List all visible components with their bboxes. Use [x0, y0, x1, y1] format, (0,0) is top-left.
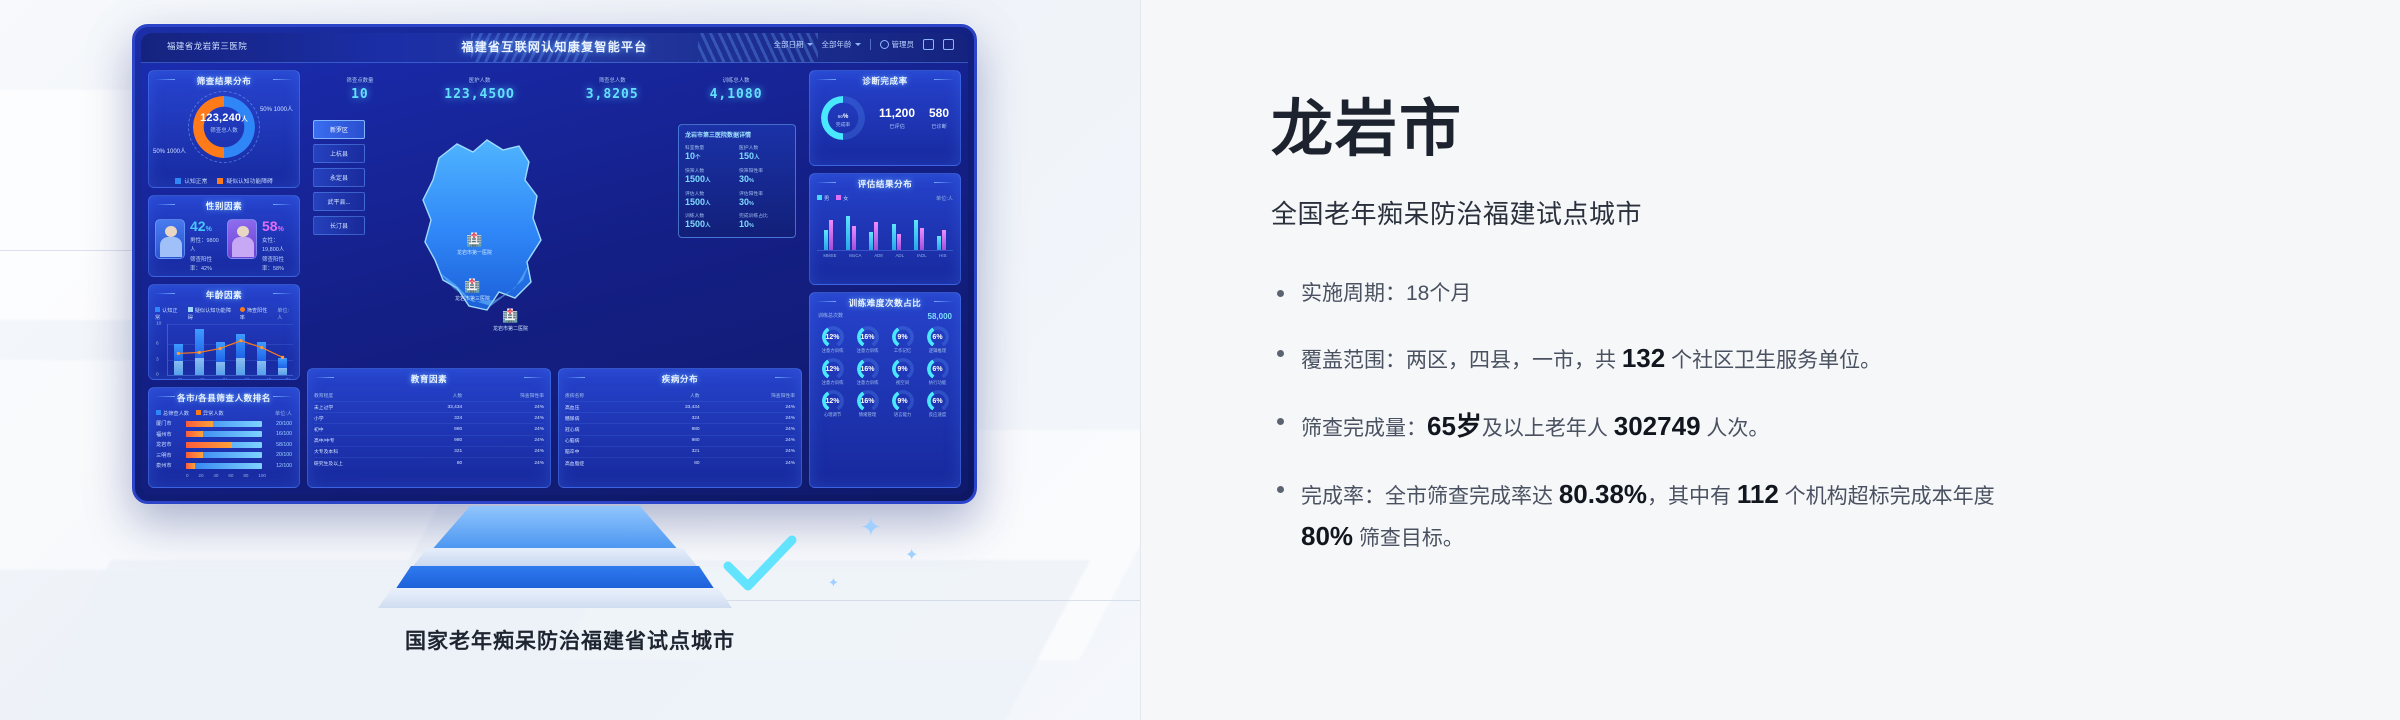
stat-label: 已诊断 [929, 123, 949, 130]
x-tick: 20 [198, 473, 203, 478]
legend-item: 总筛查人数 [156, 410, 189, 417]
panel-title: 评估结果分布 [810, 174, 960, 193]
kpi-total-trained: 训练总人数 4,1080 [710, 76, 763, 102]
city-ranking-panel: 各市/各县筛查人数排名 总筛查人数 异常人数 单位:人 厦门市20/100 福州… [148, 387, 300, 488]
table-row: 未上过学33,43424% [314, 402, 544, 413]
table-row: 研究生及以上8024% [314, 457, 544, 468]
dashboard-center-column: 筛查点数量 10 医护人数 123,45OO 筛查总人数 3,8205 [307, 70, 802, 488]
donut-value: 123,240 [200, 112, 241, 124]
sparkle-icon: ✦ [905, 545, 918, 565]
map-poi[interactable]: 🏥 龙岩市第一医院 [457, 232, 492, 256]
highlight-value: 112 [1737, 479, 1779, 509]
avatar-female-icon [227, 219, 257, 259]
hospital-icon: 🏥 [493, 308, 528, 324]
info-value: 30 [739, 197, 749, 207]
district-item[interactable]: 新罗区 [313, 120, 365, 139]
diagnosis-rate-panel: 诊断完成率 50% 完成率 11,20 [809, 70, 961, 166]
rank-unit: 单位:人 [275, 410, 292, 417]
legend-item: 疑似认知功能障碍 [217, 176, 272, 185]
age-x-labels: <60岁60-64岁65-69岁 70-74岁75-80岁>80岁 [167, 378, 293, 380]
dashboard-header: 福建省龙岩第三医院 福建省互联网认知康复智能平台 全部日期 全部年龄 [141, 33, 968, 63]
age-filter[interactable]: 全部年龄 [822, 39, 861, 50]
x-tick: 40 [213, 473, 218, 478]
legend-label: 疑似认知功能障碍 [188, 308, 231, 321]
hospital-icon: 🏥 [457, 232, 492, 248]
kpi-value: 10 [346, 87, 373, 102]
text-fragment: ，其中有 [1647, 485, 1737, 508]
training-cell: 16%注意力训练 [851, 358, 884, 386]
age-chart: 认知正常 疑似认知功能障碍 筛查阳性率 单位:人 10 6 3 0 [149, 304, 299, 380]
pedestal-layer [430, 506, 680, 552]
age-legend: 认知正常 疑似认知功能障碍 筛查阳性率 单位:人 [155, 307, 293, 321]
legend-label: 疑似认知功能障碍 [226, 179, 272, 185]
showcase-caption: 国家老年痴呆防治福建省试点城市 [0, 625, 1140, 655]
bar-group [937, 230, 947, 250]
fact-list: 实施周期：18个月 覆盖范围：两区，四县，一市，共 132 个社区卫生服务单位。… [1271, 277, 2310, 557]
training-cell: 6%反应速度 [921, 390, 954, 418]
diagnosis-stats: 50% 完成率 11,200 已评估 580 [810, 90, 960, 148]
training-cell: 16%注意力训练 [851, 326, 884, 354]
female-pct: 58 [262, 218, 278, 234]
training-cell: 9%语言能力 [886, 390, 919, 418]
hospital-info-card: 龙岩市第三医院数据详情 科室数量10个 医护人数150人 快筛人数1500人 快… [678, 124, 796, 238]
chevron-down-icon [807, 43, 813, 46]
legend-item: 男 [817, 195, 829, 202]
info-field: 完成训练占比10% [739, 212, 789, 230]
info-field: 快筛阳性率30% [739, 167, 789, 185]
panel-title: 各市/各县筛查人数排名 [149, 388, 299, 407]
info-card-grid: 科室数量10个 医护人数150人 快筛人数1500人 快筛阳性率30% 评估人数… [685, 144, 789, 230]
legend-item: 女 [836, 195, 848, 202]
info-value: 1500 [685, 219, 705, 229]
female-rate: 筛查阳性率：58% [262, 256, 293, 275]
legend-swatch [175, 178, 181, 184]
highlight-value: 80.38% [1559, 479, 1647, 509]
text-fragment: 个社区卫生服务单位。 [1665, 349, 1881, 372]
district-item[interactable]: 上杭县 [313, 144, 365, 163]
training-cell: 6%逻辑推理 [921, 326, 954, 354]
legend-item: 筛查阳性率 [240, 307, 271, 321]
assessment-chart: 男 女 单位:人 [810, 193, 960, 264]
legend-swatch [240, 307, 245, 312]
sparkle-icon: ✦ [860, 512, 882, 543]
table-row: 福州市16/100 [156, 431, 292, 438]
pedestal-layer [395, 566, 715, 590]
gender-items: 42% 男性：9800人 筛查阳性率：42% [149, 215, 299, 277]
avatar-male-icon [155, 219, 185, 259]
table-row: 初中98024% [314, 424, 544, 435]
legend-label: 男 [824, 196, 829, 202]
highlight-value: 65岁 [1427, 411, 1482, 441]
dashboard-left-column: 筛查结果分布 123,240人 筛查总人数 50% 1000人 50% 1000… [148, 70, 300, 488]
kpi-value: 4,1080 [710, 87, 763, 102]
diagnosis-gauge: 50% 完成率 [821, 96, 865, 140]
legend-swatch [817, 195, 822, 200]
kpi-label: 筛查点数量 [346, 76, 373, 84]
gender-factor-panel: 性别因素 42% 男性：9800人 筛查阳性率：42% [148, 195, 300, 277]
training-cell: 9%工作记忆 [886, 326, 919, 354]
training-total-label: 训练总次数 [818, 312, 843, 321]
info-value: 30 [739, 174, 749, 184]
table-row: 小学32424% [314, 413, 544, 424]
district-item[interactable]: 永定县 [313, 168, 365, 187]
education-table: 教育程度人数筛查阳性率 未上过学33,43424% 小学32424% 初中980… [308, 388, 550, 474]
x-tick: 0 [186, 473, 189, 478]
col-header: 人数 [641, 390, 699, 402]
stat-value: 580 [929, 106, 949, 120]
training-cell: 6%执行功能 [921, 358, 954, 386]
kpi-label: 训练总人数 [710, 76, 763, 84]
donut-label-right: 50% 1000人 [260, 104, 293, 113]
female-pct-unit: % [278, 226, 284, 233]
text-fragment: 个机构超标完成本年度 [1779, 485, 1995, 508]
user-icon [880, 40, 889, 49]
district-item[interactable]: 长汀县 [313, 216, 365, 235]
info-value: 10 [739, 219, 749, 229]
info-field: 医护人数150人 [739, 144, 789, 162]
x-tick: AD8 [874, 253, 883, 258]
map-poi[interactable]: 🏥 龙岩市第三医院 [455, 278, 490, 302]
table-row: 高血压33,43424% [565, 402, 795, 413]
assessment-unit: 单位:人 [936, 195, 953, 202]
panel-title: 诊断完成率 [810, 71, 960, 90]
text-fragment: 及以上老年人 [1482, 417, 1614, 440]
male-pct: 42 [190, 218, 206, 234]
training-total: 训练总次数 58,000 [810, 312, 960, 324]
screen-icon[interactable] [923, 39, 934, 50]
text-fragment: 覆盖范围：两区，四县，一市，共 [1301, 349, 1622, 372]
page-title: 龙岩市 [1271, 78, 2310, 168]
training-difficulty-panel: 训练难度次数占比 训练总次数 58,000 12%注意力训练 16%注意力训练 … [809, 292, 961, 488]
x-tick: 80 [243, 473, 248, 478]
highlight-value: 302749 [1614, 411, 1701, 441]
donut-label-left: 50% 1000人 [153, 146, 186, 155]
showcase-panel: 福建省龙岩第三医院 福建省互联网认知康复智能平台 全部日期 全部年龄 [0, 0, 1140, 720]
age-plot: 10 6 3 0 [167, 324, 293, 376]
female-count: 女性：19,800人 [262, 237, 293, 256]
stat-assessed: 11,200 已评估 [879, 106, 915, 130]
legend-item: 认知正常 [175, 176, 207, 185]
bar-group [846, 216, 856, 250]
info-field: 科室数量10个 [685, 144, 735, 162]
sparkle-icon: ✦ [828, 575, 839, 591]
gender-item-female: 58% 女性：19,800人 筛查阳性率：58% [227, 219, 293, 274]
x-tick: 60 [228, 473, 233, 478]
x-tick: 60-64岁 [188, 378, 204, 380]
rank-axis: 0 20 40 60 80 100 [186, 473, 266, 478]
x-tick: MMSE [823, 253, 836, 258]
table-row: 三明市20/100 [156, 452, 292, 459]
kpi-value: 3,8205 [586, 87, 639, 102]
list-item: 筛查完成量：65岁及以上老年人 302749 人次。 [1271, 405, 2051, 447]
col-header: 疾病名称 [565, 390, 641, 402]
screening-distribution-panel: 筛查结果分布 123,240人 筛查总人数 50% 1000人 50% 1000… [148, 70, 300, 188]
kpi-label: 筛查总人数 [586, 76, 639, 84]
male-count: 男性：9800人 [190, 237, 221, 256]
table-row: 厦门市20/100 [156, 420, 292, 427]
screening-legend: 认知正常 疑似认知功能障碍 [149, 176, 299, 188]
info-value: 150 [739, 151, 754, 161]
text-fragment: 筛查完成量： [1301, 417, 1427, 440]
y-tick: 0 [156, 373, 159, 378]
kpi-medical-staff: 医护人数 123,45OO [444, 76, 515, 102]
hospital-icon: 🏥 [455, 278, 490, 294]
gauge-label: 完成率 [836, 121, 850, 128]
table-row: 糖尿病32424% [565, 413, 795, 424]
text-fragment: 实施周期：18个月 [1301, 282, 1471, 305]
info-value: 1500 [685, 174, 705, 184]
y-tick: 6 [156, 342, 159, 347]
bottom-tables: 教育因素 教育程度人数筛查阳性率 未上过学33,43424% 小学32424% … [307, 368, 802, 488]
header-controls: 全部日期 全部年龄 管理员 [774, 39, 955, 50]
legend-label: 女 [843, 196, 848, 202]
screening-donut-chart: 123,240人 筛查总人数 50% 1000人 50% 1000人 [149, 90, 299, 176]
map-panel: 新罗区 上杭县 永定县 武平县... 长汀县 [307, 112, 802, 362]
bar-group [914, 220, 924, 250]
age-filter-label: 全部年龄 [822, 39, 852, 50]
logout-icon[interactable] [943, 39, 954, 50]
text-fragment: 完成率：全市筛查完成率达 [1301, 485, 1559, 508]
page-subtitle: 全国老年痴呆防治福建试点城市 [1271, 194, 2310, 231]
legend-swatch [188, 307, 193, 312]
col-header: 筛查阳性率 [700, 390, 795, 402]
donut-center: 123,240人 筛查总人数 [184, 112, 264, 134]
x-tick: 75-80岁 [255, 378, 271, 380]
legend-item: 异常人数 [196, 410, 224, 417]
info-value: 10 [685, 151, 695, 161]
panel-title: 筛查结果分布 [149, 71, 299, 90]
stat-value: 11,200 [879, 106, 915, 120]
bar-group [869, 222, 879, 250]
dashboard-body: 筛查结果分布 123,240人 筛查总人数 50% 1000人 50% 1000… [141, 63, 968, 495]
table-row: 高中/中专98024% [314, 435, 544, 446]
bar-group [892, 224, 902, 250]
legend-label: 异常人数 [203, 411, 224, 417]
info-field: 训练人数1500人 [685, 212, 735, 230]
bar-group [824, 220, 834, 250]
assessment-x-labels: MMSE MoCA AD8 ADL IADL HIS [817, 253, 953, 258]
legend-label: 认知正常 [184, 179, 207, 185]
table-row: 心脑病98024% [565, 435, 795, 446]
panel-title: 年龄因素 [149, 285, 299, 304]
list-item: 实施周期：18个月 [1271, 277, 2051, 311]
col-header: 教育程度 [314, 390, 412, 402]
poi-label: 龙岩市第一医院 [457, 249, 492, 256]
kpi-screening-points: 筛查点数量 10 [346, 76, 373, 102]
table-row: 大专及本科32124% [314, 446, 544, 457]
check-mark-icon [700, 520, 820, 610]
gender-item-male: 42% 男性：9800人 筛查阳性率：42% [155, 219, 221, 274]
legend-item: 认知正常 [155, 307, 181, 321]
district-item[interactable]: 武平县... [313, 192, 365, 211]
stat-label: 已评估 [879, 123, 915, 130]
age-rate-line [168, 324, 293, 375]
donut-label: 筛查总人数 [184, 126, 264, 134]
x-tick: 100 [258, 473, 266, 478]
page-root: 福建省龙岩第三医院 福建省互联网认知康复智能平台 全部日期 全部年龄 [0, 0, 2400, 720]
donut-unit: 人 [241, 116, 248, 123]
col-header: 人数 [412, 390, 462, 402]
info-field: 评估阳性率30% [739, 190, 789, 208]
text-fragment: 筛查目标。 [1353, 527, 1464, 550]
pedestal-layer [378, 588, 732, 608]
x-tick: <60岁 [170, 378, 182, 380]
table-row: 高血脂症8024% [565, 457, 795, 468]
kpi-label: 医护人数 [444, 76, 515, 84]
dashboard-title: 福建省互联网认知康复智能平台 [461, 38, 647, 55]
poi-label: 龙岩市第三医院 [455, 295, 490, 302]
x-tick: 65-69岁 [211, 378, 227, 380]
poi-label: 龙岩市第二医院 [493, 325, 528, 332]
training-cell: 16%情绪管理 [851, 390, 884, 418]
training-cell: 12%注意力训练 [816, 358, 849, 386]
text-fragment: 人次。 [1701, 417, 1770, 440]
info-panel: 龙岩市 全国老年痴呆防治福建试点城市 实施周期：18个月 覆盖范围：两区，四县，… [1141, 0, 2400, 720]
table-row: 龙岩市58/100 [156, 441, 292, 448]
training-total-value: 58,000 [928, 312, 952, 321]
assessment-bars [817, 205, 953, 251]
map-poi[interactable]: 🏥 龙岩市第二医院 [493, 308, 528, 332]
x-tick: IADL [917, 253, 927, 258]
account-menu[interactable]: 管理员 [880, 39, 915, 50]
info-value: 1500 [685, 197, 705, 207]
age-factor-panel: 年龄因素 认知正常 疑似认知功能障碍 筛查阳性率 单位:人 10 [148, 284, 300, 380]
dashboard-monitor: 福建省龙岩第三医院 福建省互联网认知康复智能平台 全部日期 全部年龄 [132, 24, 977, 504]
legend-label: 总筛查人数 [163, 411, 189, 417]
chevron-down-icon [855, 43, 861, 46]
training-cell: 9%视空间 [886, 358, 919, 386]
info-field: 评估人数1500人 [685, 190, 735, 208]
training-cell: 12%心理调节 [816, 390, 849, 418]
training-grid: 12%注意力训练 16%注意力训练 9%工作记忆 6%逻辑推理 12%注意力训练… [810, 324, 960, 424]
date-filter-label: 全部日期 [774, 39, 804, 50]
legend-swatch [196, 410, 201, 415]
y-tick: 3 [156, 357, 159, 362]
info-field: 快筛人数1500人 [685, 167, 735, 185]
panel-title: 性别因素 [149, 196, 299, 215]
male-pct-unit: % [206, 226, 212, 233]
table-row: 脑卒中32124% [565, 446, 795, 457]
assessment-legend: 男 女 单位:人 [817, 195, 953, 202]
table-row: 泉州市12/100 [156, 462, 292, 469]
education-factor-panel: 教育因素 教育程度人数筛查阳性率 未上过学33,43424% 小学32424% … [307, 368, 551, 488]
list-item: 完成率：全市筛查完成率达 80.38%，其中有 112 个机构超标完成本年度 8… [1271, 473, 2051, 557]
table-row: 冠心病98024% [565, 424, 795, 435]
y-tick: 10 [156, 322, 161, 327]
age-unit: 单位:人 [277, 307, 293, 321]
ranking-chart: 总筛查人数 异常人数 单位:人 厦门市20/100 福州市16/100 龙岩市5… [149, 407, 299, 484]
male-rate: 筛查阳性率：42% [190, 256, 221, 275]
list-item: 覆盖范围：两区，四县，一市，共 132 个社区卫生服务单位。 [1271, 337, 2051, 379]
account-label: 管理员 [892, 39, 915, 50]
col-header: 筛查阳性率 [462, 390, 544, 402]
info-card-title: 龙岩市第三医院数据详情 [685, 130, 789, 139]
legend-swatch [217, 178, 223, 184]
x-tick: >80岁 [278, 378, 290, 380]
date-filter[interactable]: 全部日期 [774, 39, 813, 50]
panel-title: 教育因素 [308, 369, 550, 388]
panel-title: 疾病分布 [559, 369, 801, 388]
dashboard-right-column: 诊断完成率 50% 完成率 11,20 [809, 70, 961, 488]
assessment-distribution-panel: 评估结果分布 男 女 单位:人 [809, 173, 961, 285]
kpi-row: 筛查点数量 10 医护人数 123,45OO 筛查总人数 3,8205 [307, 70, 802, 106]
legend-swatch [155, 307, 160, 312]
panel-title: 训练难度次数占比 [810, 293, 960, 312]
stat-diagnosed: 580 已诊断 [929, 106, 949, 130]
divider [870, 39, 871, 50]
kpi-total-screened: 筛查总人数 3,8205 [586, 76, 639, 102]
disease-table: 疾病名称人数筛查阳性率 高血压33,43424% 糖尿病32424% 冠心病98… [559, 388, 801, 474]
x-tick: ADL [895, 253, 904, 258]
x-tick: 70-74岁 [233, 378, 249, 380]
legend-swatch [836, 195, 841, 200]
dashboard-screen: 福建省龙岩第三医院 福建省互联网认知康复智能平台 全部日期 全部年龄 [141, 33, 968, 495]
x-tick: HIS [939, 253, 946, 258]
header-org-name: 福建省龙岩第三医院 [167, 40, 247, 52]
ranking-legend: 总筛查人数 异常人数 单位:人 [156, 410, 292, 417]
legend-item: 疑似认知功能障碍 [188, 307, 233, 321]
x-tick: MoCA [849, 253, 861, 258]
disease-distribution-panel: 疾病分布 疾病名称人数筛查阳性率 高血压33,43424% 糖尿病32424% … [558, 368, 802, 488]
district-list: 新罗区 上杭县 永定县 武平县... 长汀县 [313, 120, 365, 240]
highlight-value: 132 [1622, 343, 1665, 373]
kpi-value: 123,45OO [444, 87, 515, 102]
legend-swatch [156, 410, 161, 415]
highlight-value: 80% [1301, 521, 1353, 551]
training-cell: 12%注意力训练 [816, 326, 849, 354]
